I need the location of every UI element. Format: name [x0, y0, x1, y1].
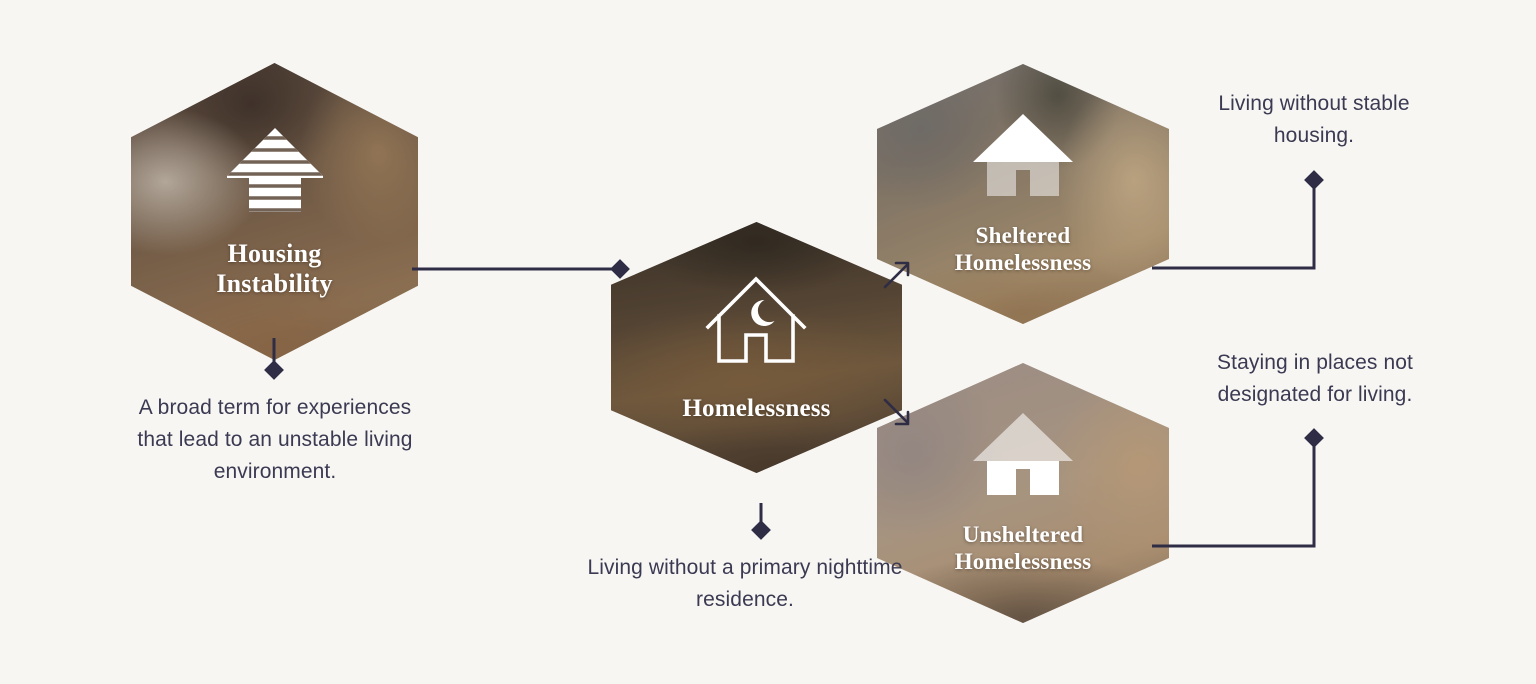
node-homelessness[interactable]: Homelessness: [611, 222, 902, 473]
house-solid-roof-icon: [971, 112, 1075, 203]
caption-homelessness: Living without a primary nighttime resid…: [585, 552, 905, 616]
house-slatted-icon: [223, 124, 327, 221]
connector-unsheltered-to-caption: [1152, 428, 1324, 546]
node-label-unsheltered-homelessness: Unsheltered Homelessness: [955, 522, 1092, 575]
node-label-line2: Instability: [216, 269, 332, 299]
node-sheltered-homelessness[interactable]: Sheltered Homelessness: [877, 64, 1169, 324]
connector-housing-to-homelessness: [412, 259, 630, 279]
infographic-canvas: Housing Instability Homelessness: [0, 0, 1536, 684]
node-unsheltered-homelessness[interactable]: Unsheltered Homelessness: [877, 363, 1169, 623]
house-moon-outline-icon: [703, 273, 809, 372]
node-label-line1: Homelessness: [682, 394, 830, 423]
connector-homelessness-to-caption: [751, 503, 771, 540]
connector-sheltered-to-caption: [1152, 170, 1324, 268]
node-housing-instability[interactable]: Housing Instability: [131, 63, 418, 360]
node-label-line2: Homelessness: [955, 250, 1092, 277]
caption-sheltered-homelessness: Living without stable housing.: [1178, 88, 1450, 152]
node-label-housing-instability: Housing Instability: [216, 239, 332, 299]
caption-unsheltered-homelessness: Staying in places not designated for liv…: [1170, 347, 1460, 411]
node-label-line1: Sheltered: [955, 223, 1092, 250]
node-label-line1: Housing: [216, 239, 332, 269]
node-label-line1: Unsheltered: [955, 522, 1092, 549]
caption-housing-instability: A broad term for experiences that lead t…: [120, 392, 430, 488]
node-label-homelessness: Homelessness: [682, 394, 830, 423]
node-label-line2: Homelessness: [955, 549, 1092, 576]
node-label-sheltered-homelessness: Sheltered Homelessness: [955, 223, 1092, 276]
house-solid-body-icon: [971, 411, 1075, 502]
